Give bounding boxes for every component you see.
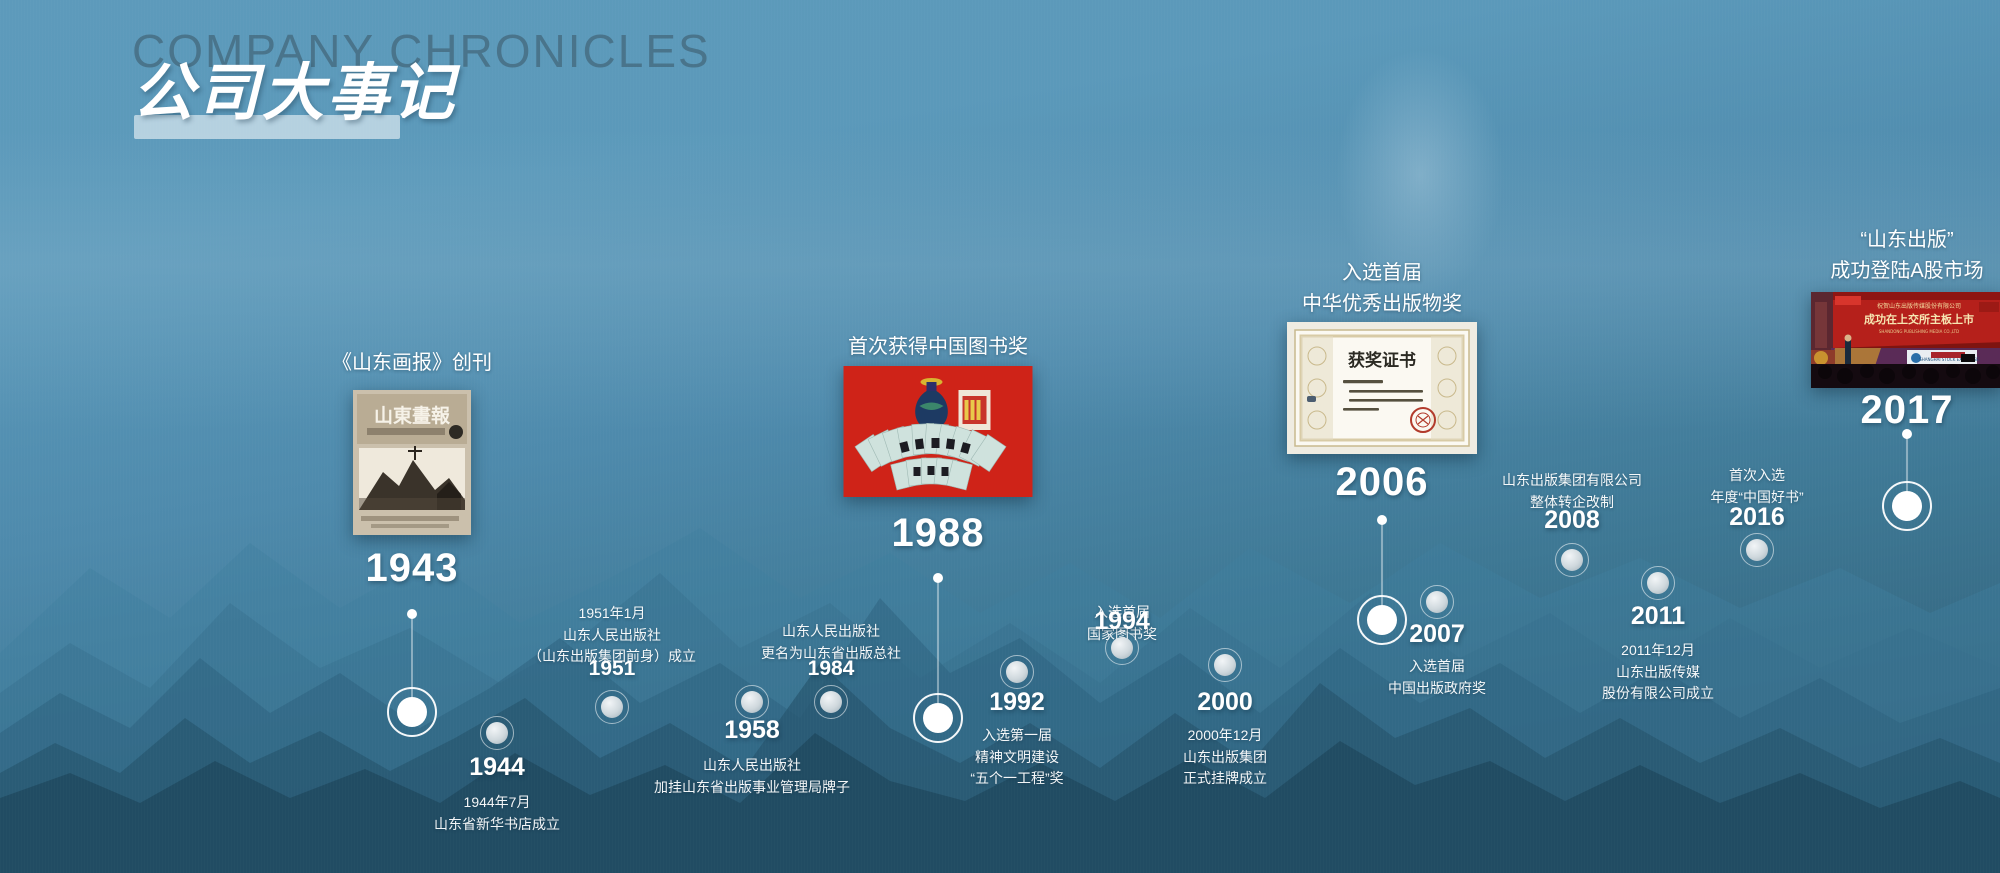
event-caption-2017: “山东出版” 成功登陆A股市场 [1830, 225, 1983, 287]
a-share-listing-ceremony-art: 祝贺山东出版传媒股份有限公司 成功在上交所主板上市 SHANDONG PUBLI… [1811, 292, 2000, 388]
caption-line: 成功登陆A股市场 [1830, 256, 1983, 287]
svg-text:SHANDONG PUBLISHING MEDIA CO.,: SHANDONG PUBLISHING MEDIA CO.,LTD [1879, 329, 1959, 334]
event-stem-cap-2017 [1902, 429, 1912, 439]
timeline-event-2017[interactable]: “山东出版” 成功登陆A股市场 祝贺山东出版传媒股份有限公司 成功在上交所主板上… [1737, 0, 2000, 873]
infographic-canvas: COMPANY CHRONICLES 公司大事记 《山东画报》创刊 山東畫報 [0, 0, 2000, 873]
event-marker-2017[interactable] [1892, 491, 1922, 521]
caption-line: “山东出版” [1830, 225, 1983, 256]
a-share-listing-ceremony-photo[interactable]: 祝贺山东出版传媒股份有限公司 成功在上交所主板上市 SHANDONG PUBLI… [1811, 292, 2000, 388]
svg-text:成功在上交所主板上市: 成功在上交所主板上市 [1864, 312, 1974, 326]
svg-text:祝贺山东出版传媒股份有限公司: 祝贺山东出版传媒股份有限公司 [1877, 302, 1961, 310]
event-year-2017: 2017 [1861, 390, 1954, 430]
